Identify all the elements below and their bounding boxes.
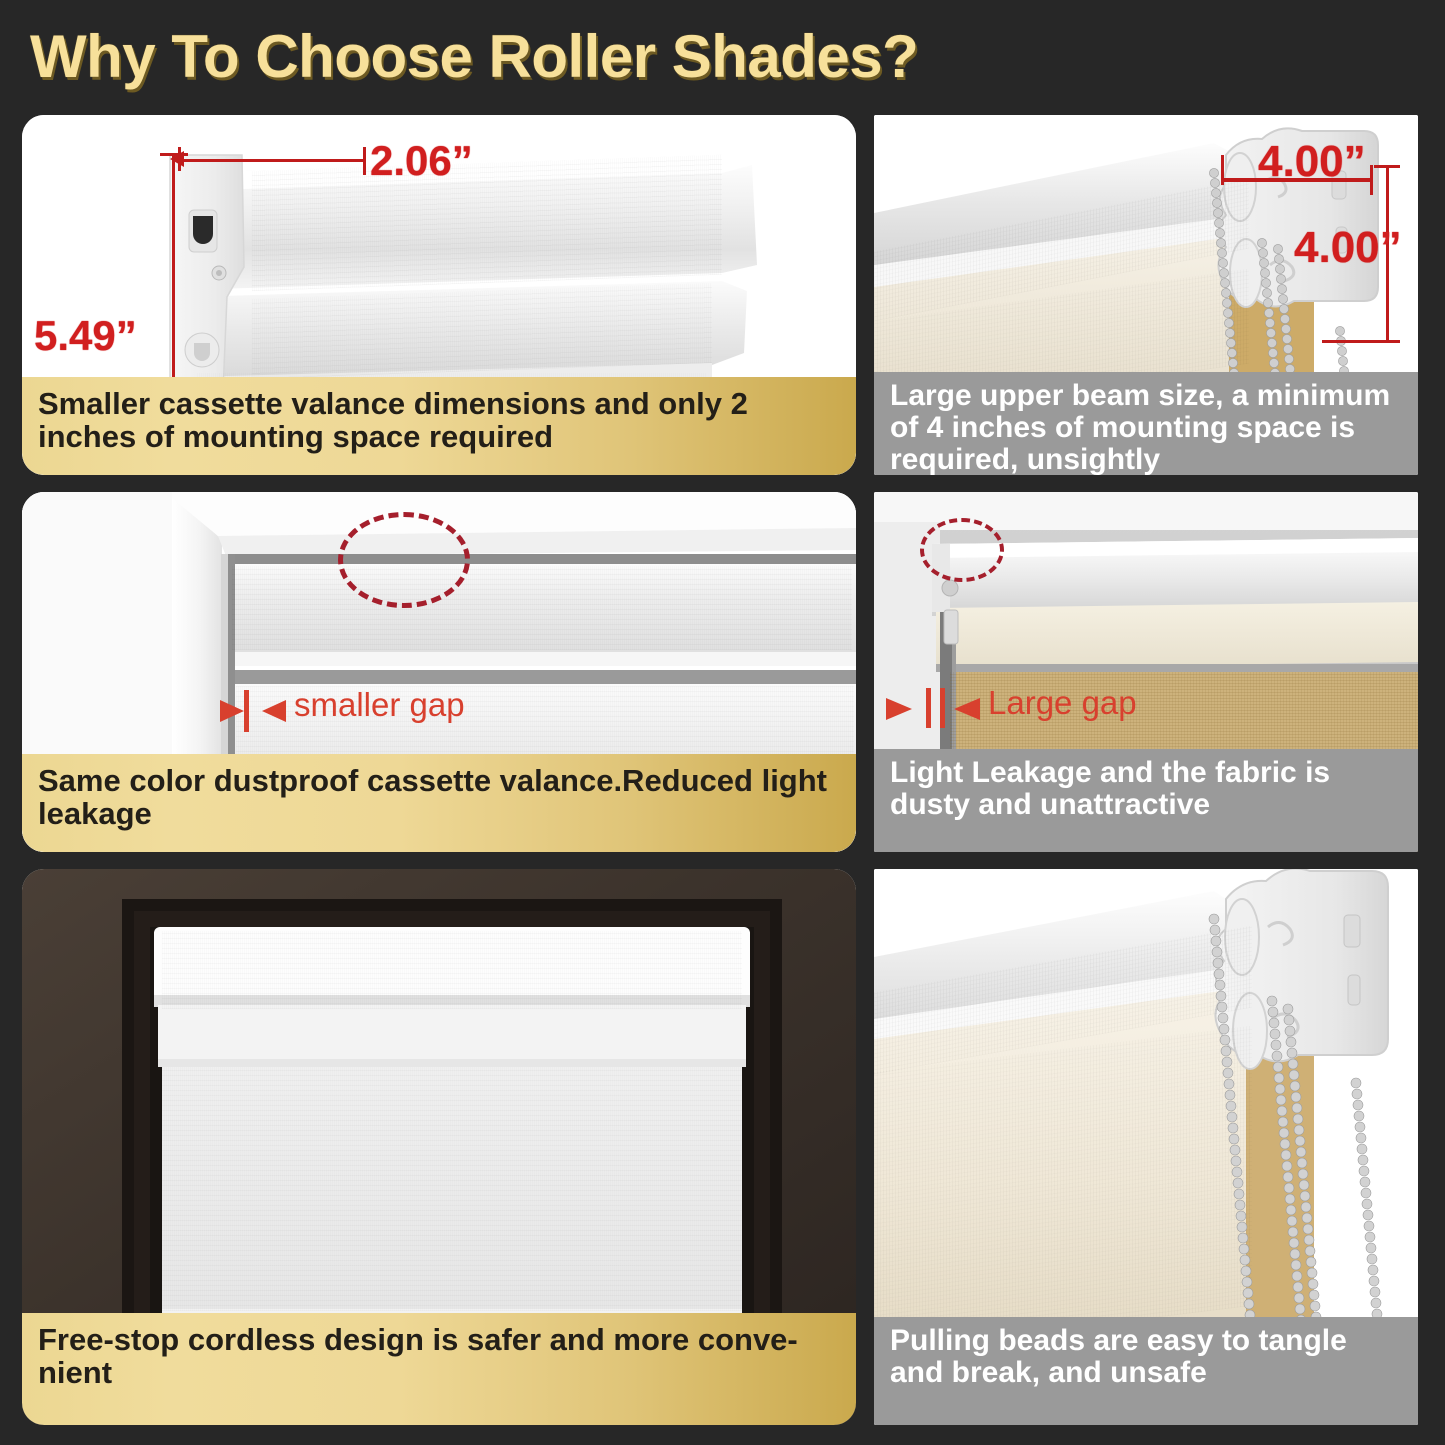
panel-pro-cassette-size: 2.06” 5.49” Smaller cassette valance dim… [22, 115, 856, 475]
smaller-gap-label: smaller gap [294, 686, 465, 724]
grid-row-1: 2.06” 5.49” Smaller cassette valance dim… [22, 115, 1418, 475]
panel-pro-cordless: Free-stop cordless design is safer and m… [22, 869, 856, 1425]
comparison-grid: 2.06” 5.49” Smaller cassette valance dim… [22, 115, 1418, 1425]
panel-con-light-leakage: Large gap Light Leakage and the fabric i… [874, 492, 1418, 852]
panel-pro-light-leakage: smaller gap Same color dustproof cassett… [22, 492, 856, 852]
gap-highlight-ellipse [338, 512, 470, 608]
caption-pro-cassette-size: Smaller cassette valance dimensions and … [22, 377, 856, 475]
beam-width-label: 4.00” [1258, 137, 1366, 187]
width-dimension-line [178, 159, 366, 162]
beam-height-label: 4.00” [1294, 223, 1402, 273]
page-title: Why To Choose Roller Shades? [30, 22, 918, 91]
caption-con-beam-size: Large upper beam size, a minimum of 4 in… [874, 372, 1418, 475]
height-dimension-label: 5.49” [34, 312, 137, 360]
large-gap-label: Large gap [988, 684, 1137, 722]
grid-row-2: smaller gap Same color dustproof cassett… [22, 492, 1418, 852]
panel-con-beads: Pulling beads are easy to tangle and bre… [874, 869, 1418, 1425]
gap-highlight-ellipse [920, 518, 1004, 582]
caption-pro-cordless: Free-stop cordless design is safer and m… [22, 1313, 856, 1425]
width-dimension-label: 2.06” [370, 137, 473, 185]
caption-con-beads: Pulling beads are easy to tangle and bre… [874, 1317, 1418, 1425]
infographic-page: Why To Choose Roller Shades? [0, 0, 1445, 1445]
grid-row-3: Free-stop cordless design is safer and m… [22, 869, 1418, 1425]
caption-con-light-leakage: Light Leakage and the fabric is dusty an… [874, 749, 1418, 852]
caption-pro-light-leakage: Same color dustproof cassette valance.Re… [22, 754, 856, 852]
panel-con-beam-size: 4.00” 4.00” Large upper beam size, a min… [874, 115, 1418, 475]
